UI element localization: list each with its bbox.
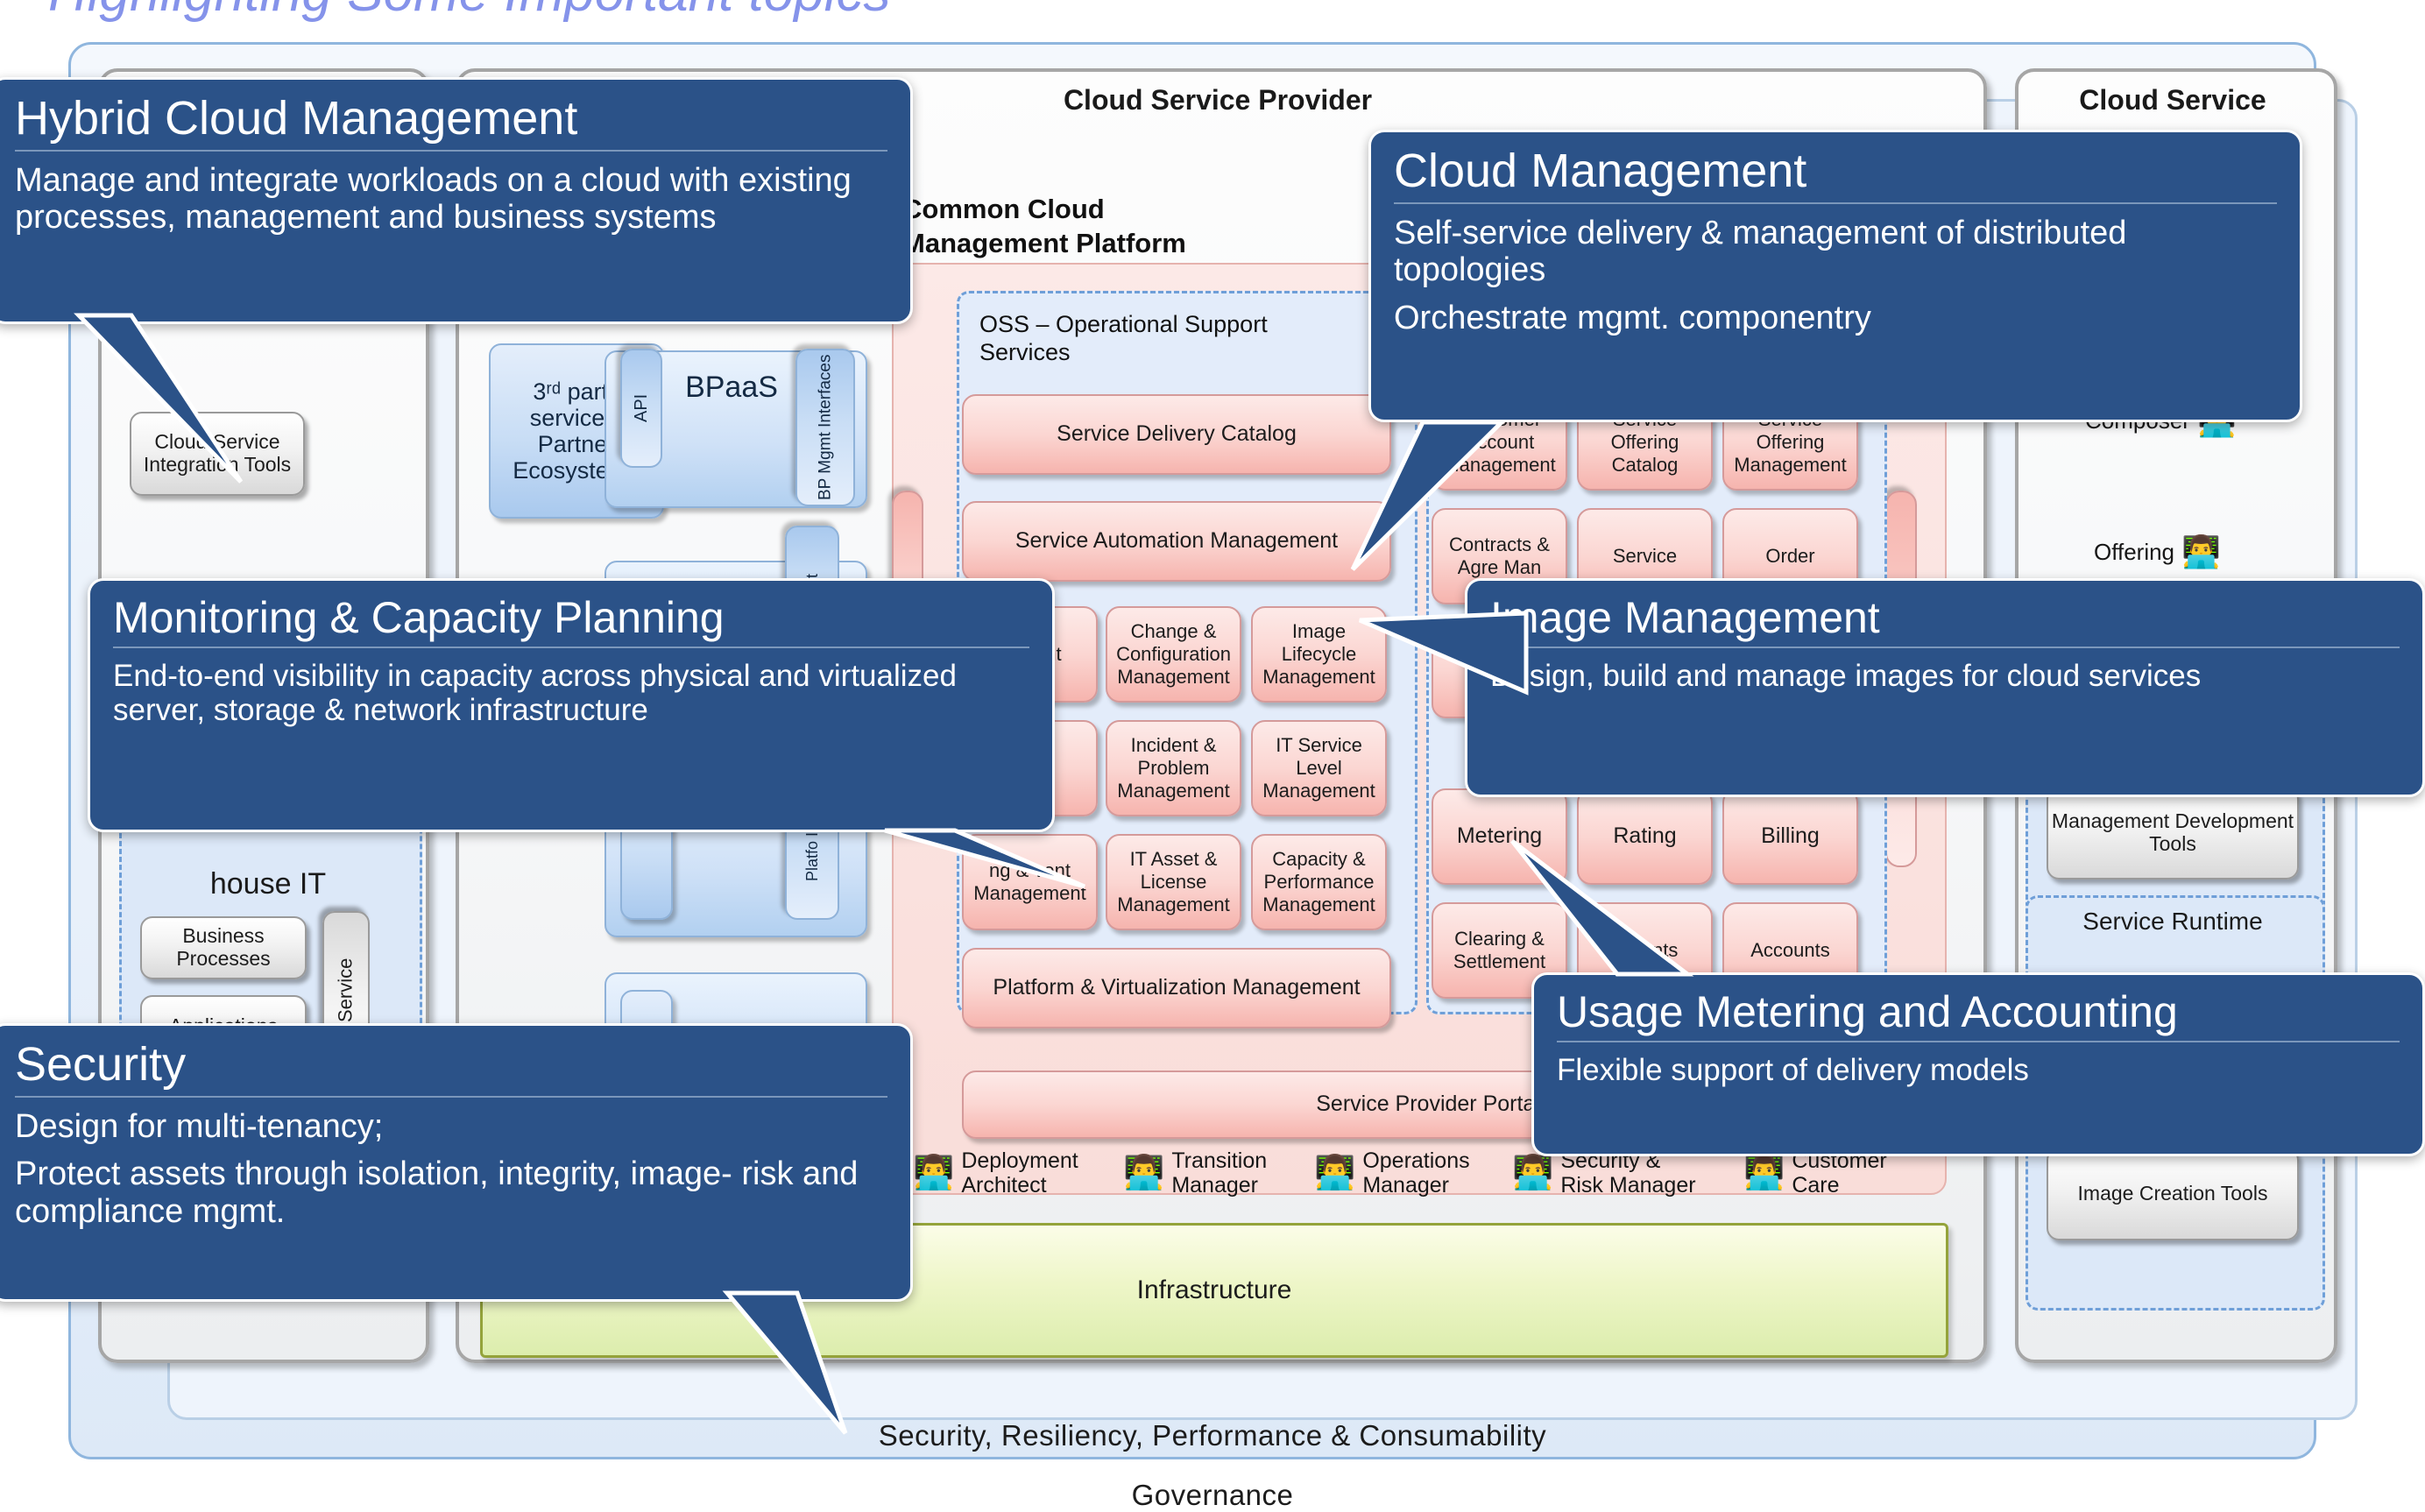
offering-label: Offering	[2094, 540, 2174, 565]
person-icon: 👨‍💻	[913, 1155, 954, 1192]
business-processes-box[interactable]: Business Processes	[140, 916, 307, 979]
callout-tail-hybrid	[79, 315, 280, 491]
person-icon: 👨‍💻	[1743, 1155, 1785, 1192]
callout-title: Security	[15, 1038, 887, 1098]
persona-line2: Risk Manager	[1560, 1173, 1695, 1198]
callout-body: Design, build and manage images for clou…	[1490, 659, 2400, 693]
oss-grid-cell[interactable]: Incident & Problem Management	[1106, 720, 1241, 816]
oss-grid-cell[interactable]: IT Asset & License Management	[1106, 834, 1241, 930]
api-label: API	[632, 394, 651, 422]
callout-body: Protect assets through isolation, integr…	[15, 1155, 887, 1230]
persona-line2: Architect	[961, 1173, 1046, 1198]
platform-virtualization-management-box[interactable]: Platform & Virtualization Management	[962, 948, 1391, 1028]
callout-hybrid-cloud-management: Hybrid Cloud Management Manage and integ…	[0, 77, 913, 324]
callout-monitoring-capacity-planning: Monitoring & Capacity Planning End-to-en…	[88, 578, 1055, 832]
callout-title: Hybrid Cloud Management	[15, 92, 887, 152]
ccmp-title: Common Cloud Management Platform	[902, 193, 1235, 261]
developer-offering-row: Offering 👨‍💻	[2094, 534, 2221, 569]
callout-cloud-management: Cloud Management Self-service delivery &…	[1368, 130, 2302, 422]
callout-body: Manage and integrate workloads on a clou…	[15, 162, 887, 237]
billing-box[interactable]: Billing	[1722, 788, 1858, 885]
infrastructure-label: Infrastructure	[1137, 1275, 1292, 1305]
bpaas-label-box: BPaaS	[675, 361, 788, 413]
callout-usage-metering-accounting: Usage Metering and Accounting Flexible s…	[1531, 972, 2425, 1156]
footer-governance: Governance	[0, 1479, 2425, 1512]
oss-grid-cell[interactable]: Change & Configuration Management	[1106, 606, 1241, 703]
consumer-service-label: Service	[336, 957, 357, 1021]
bp-mgmt-interfaces-box[interactable]: BP Mgmt Interfaces	[795, 349, 855, 506]
person-icon: 👨‍💻	[1314, 1155, 1355, 1192]
persona-transition-manager: 👨‍💻 TransitionManager	[1123, 1149, 1267, 1198]
persona-line1: Operations	[1362, 1148, 1469, 1173]
persona-line1: Deployment	[961, 1148, 1078, 1173]
ccmp-title-line1: Common Cloud	[902, 194, 1105, 224]
callout-body: Self-service delivery & management of di…	[1394, 215, 2277, 289]
persona-security-risk-manager: 👨‍💻 Security &Risk Manager	[1512, 1149, 1696, 1198]
person-icon: 👨‍💻	[1123, 1155, 1164, 1192]
callout-tail-usage-metering	[1512, 841, 1687, 999]
management-development-tools-box[interactable]: Management Development Tools	[2047, 787, 2299, 880]
callout-title: Image Management	[1490, 593, 2400, 648]
persona-customer-care: 👨‍💻 CustomerCare	[1743, 1149, 1887, 1198]
callout-tail-security	[727, 1293, 920, 1459]
callout-tail-image-management	[1360, 613, 1535, 745]
callout-body: Design for multi-tenancy;	[15, 1108, 887, 1146]
persona-line1: Transition	[1171, 1148, 1267, 1173]
persona-line2: Care	[1792, 1173, 1839, 1198]
slide-title: Highlighting Some Important topics	[48, 0, 890, 24]
callout-title: Monitoring & Capacity Planning	[113, 593, 1029, 648]
ccmp-title-line2: Management Platform	[902, 228, 1186, 258]
image-creation-tools-box[interactable]: Image Creation Tools	[2047, 1148, 2299, 1240]
callout-tail-cloud-management	[1353, 422, 1563, 597]
person-icon: 👨‍💻	[1512, 1155, 1553, 1192]
callout-image-management: Image Management Design, build and manag…	[1465, 578, 2425, 797]
persona-deployment-architect: 👨‍💻 DeploymentArchitect	[913, 1149, 1078, 1198]
service-runtime-label: Service Runtime	[2026, 908, 2320, 936]
callout-body: End-to-end visibility in capacity across…	[113, 659, 1029, 727]
callout-tail-monitoring	[885, 830, 1095, 901]
persona-operations-manager: 👨‍💻 OperationsManager	[1314, 1149, 1470, 1198]
persona-line2: Manager	[1171, 1173, 1258, 1198]
callout-body: Flexible support of delivery models	[1557, 1053, 2400, 1087]
api-box[interactable]: API	[620, 349, 662, 468]
footer-quality-attributes: Security, Resiliency, Performance & Cons…	[0, 1419, 2425, 1452]
callout-security: Security Design for multi-tenancy; Prote…	[0, 1023, 913, 1302]
bpaas-label: BPaaS	[685, 371, 778, 404]
callout-body: Orchestrate mgmt. componentry	[1394, 300, 2277, 337]
consumer-inhouse-it-label: house IT	[119, 867, 417, 901]
person-icon: 👨‍💻	[2181, 534, 2221, 569]
service-delivery-catalog-box[interactable]: Service Delivery Catalog	[962, 394, 1391, 475]
callout-title: Cloud Management	[1394, 145, 2277, 204]
bp-mgmt-interfaces-label: BP Mgmt Interfaces	[816, 355, 834, 501]
developer-panel-title: Cloud Service	[2015, 84, 2330, 117]
service-automation-management-box[interactable]: Service Automation Management	[962, 501, 1391, 582]
oss-label: OSS – Operational Support Services	[979, 310, 1356, 367]
persona-line2: Manager	[1362, 1173, 1449, 1198]
oss-grid-cell[interactable]: Capacity & Performance Management	[1251, 834, 1387, 930]
